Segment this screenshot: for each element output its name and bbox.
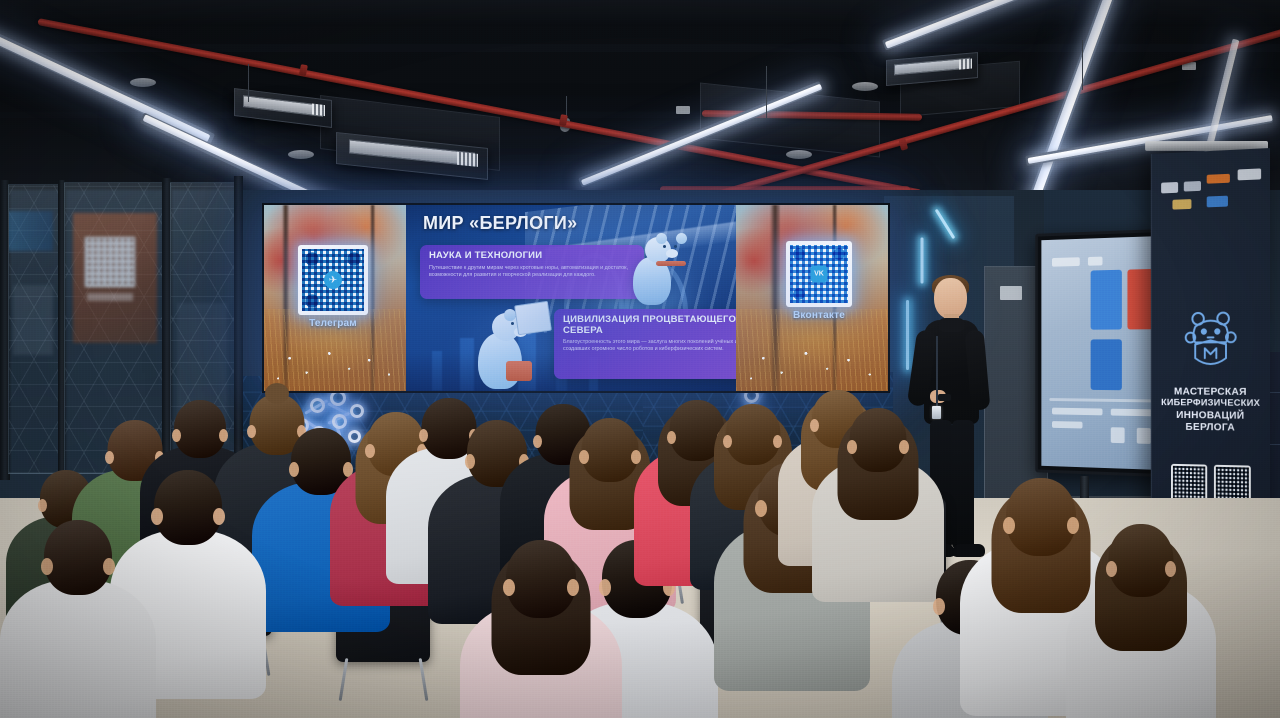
telegram-icon: ✈ (324, 271, 342, 289)
audience-member-ear (755, 500, 767, 517)
audience-member-ear (419, 429, 428, 442)
neon-accent-line (921, 238, 924, 284)
qr-code-telegram[interactable]: ✈ (298, 245, 368, 315)
qr-code-vk[interactable]: VK (786, 241, 852, 307)
presentation-slide: МИР «БЕРЛОГИ» НАУКА И ТЕХНОЛОГИИ Путешес… (406, 205, 736, 391)
audience-member-ear (105, 451, 114, 464)
lanyard-cord (936, 336, 938, 406)
rollup-title-line: МАСТЕРСКАЯ (1152, 386, 1270, 399)
partner-logo-4 (1238, 168, 1261, 180)
smoke-detector-icon (130, 78, 156, 87)
audience-member-head (506, 540, 576, 618)
audience-member-ear (465, 454, 475, 469)
audience-member-ear (1106, 561, 1117, 577)
audience-member-ear (41, 558, 53, 575)
partner-logos-row (1159, 162, 1263, 223)
slide-art-panel-left: ✈ Телеграм (264, 205, 406, 391)
vk-icon: VK (811, 266, 828, 283)
presentation-clicker[interactable] (938, 394, 951, 401)
audience-member-ear (1003, 517, 1015, 534)
smoke-detector-icon (288, 150, 314, 159)
slide-card-science: НАУКА И ТЕХНОЛОГИИ Путешествие к другим … (420, 245, 644, 299)
slide-card-body: Благоустроенность этого мира — заслуга м… (563, 339, 736, 353)
partner-logo-2 (1184, 181, 1201, 192)
audience-member (460, 540, 622, 718)
bear-mascot-icon (1181, 306, 1239, 372)
audience-member-hair-bun (265, 383, 289, 404)
audience-member (1066, 524, 1216, 718)
partner-logo-6 (1207, 196, 1228, 208)
glass-partition (8, 184, 60, 474)
slide-card-heading: НАУКА И ТЕХНОЛОГИИ (429, 251, 635, 262)
audience-member-ear (103, 558, 115, 575)
slide-card-civilization: ЦИВИЛИЗАЦИЯ ПРОЦВЕТАЮЩЕГО СЕВЕРА Благоус… (554, 309, 736, 379)
audience-member-ear (567, 579, 579, 596)
audience-member-head (44, 520, 112, 595)
qr-label-vk: Вконтакте (793, 310, 845, 321)
audience-member-ear (667, 431, 676, 444)
partner-logo-5 (1172, 199, 1191, 210)
rollup-title-line: КИБЕРФИЗИЧЕСКИХ (1152, 398, 1270, 410)
audience-member (0, 520, 156, 718)
partner-logo-1 (1161, 182, 1178, 193)
qr-block-vk[interactable]: VK Вконтакте (786, 241, 852, 321)
slide-card-body: Путешествие к другим мирам через кротовы… (429, 265, 635, 279)
audience-member-head (154, 470, 222, 545)
qr-code-left[interactable] (1171, 464, 1207, 502)
presenter-turtleneck-collar (938, 318, 965, 332)
audience-member-ear (1165, 561, 1176, 577)
audience-member-ear (503, 579, 515, 596)
audience-member-body (0, 580, 156, 718)
ceiling-speaker-icon (676, 106, 690, 114)
audience-member-ear (365, 444, 375, 458)
smoke-detector-icon (852, 82, 878, 91)
audience-member-head (850, 408, 907, 472)
bear-mascot-illustration (490, 303, 554, 391)
qr-label-telegram: Телеграм (309, 318, 357, 329)
audience-member-ear (213, 508, 225, 525)
presentation-room-scene: ✈ Телеграм МИР «БЕРЛОГИ» НАУКА И ТЕХНОЛО… (0, 0, 1280, 718)
slide-art-panel-right: VK Вконтакте (736, 205, 888, 391)
led-video-wall: ✈ Телеграм МИР «БЕРЛОГИ» НАУКА И ТЕХНОЛО… (262, 203, 890, 393)
rollup-banner-title: МАСТЕРСКАЯ КИБЕРФИЗИЧЕСКИХ ИННОВАЦИЙ БЕР… (1152, 386, 1270, 435)
audience-member-head (726, 404, 781, 465)
slide-card-heading: ЦИВИЛИЗАЦИЯ ПРОЦВЕТАЮЩЕГО СЕВЕРА (563, 315, 736, 336)
audience-member-ear (172, 429, 181, 442)
audience-member-ear (723, 435, 732, 448)
audience-member-ear (38, 499, 47, 512)
audience-member-ear (289, 462, 299, 477)
audience-member-head (1109, 524, 1174, 597)
audience-member-ear (533, 435, 542, 448)
audience-member-ear (899, 440, 909, 454)
bear-mascot-illustration (644, 231, 696, 307)
qr-block-telegram[interactable]: ✈ Телеграм (298, 245, 368, 329)
audience-member-ear (579, 450, 589, 464)
presenter-head (934, 278, 967, 319)
smoke-detector-icon (786, 150, 812, 159)
door-sign (1000, 286, 1022, 300)
partner-logo-3 (1207, 174, 1230, 184)
rollup-title-line: БЕРЛОГА (1152, 421, 1270, 435)
audience-member-ear (847, 440, 857, 454)
audience-member-head (582, 418, 639, 482)
audience-member-ear (933, 598, 945, 615)
slide-title: МИР «БЕРЛОГИ» (423, 213, 577, 234)
